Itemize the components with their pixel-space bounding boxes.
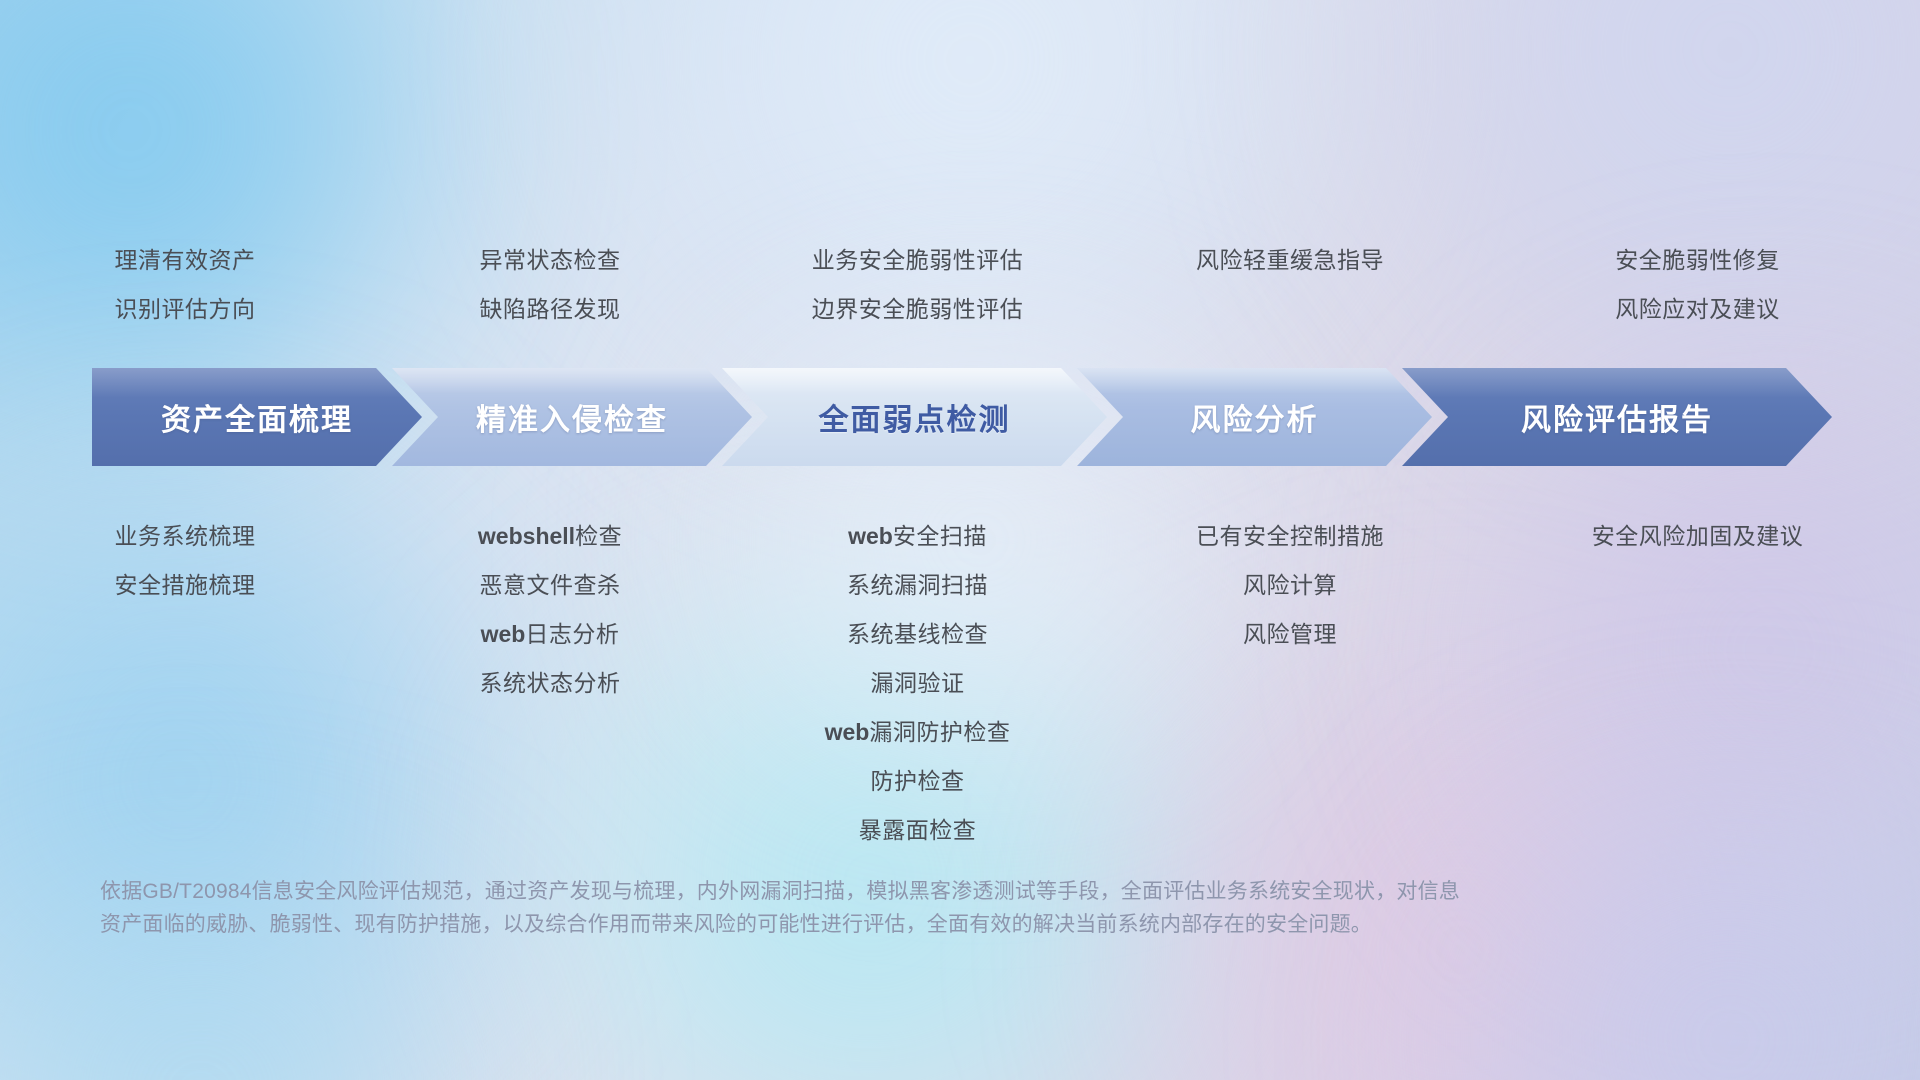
bottom-items-stage-4: 已有安全控制措施 风险计算 风险管理 [1105, 512, 1475, 659]
bottom-item: 恶意文件查杀 [370, 561, 730, 610]
bottom-item-cjk: 安全扫描 [893, 523, 987, 549]
top-item: 业务安全脆弱性评估 [730, 236, 1105, 285]
bottom-item-latin: web [848, 523, 893, 549]
top-item: 安全脆弱性修复 [1475, 236, 1920, 285]
bottom-item: 系统基线检查 [730, 610, 1105, 659]
bottom-item: 风险管理 [1105, 610, 1475, 659]
stage-arrow-4[interactable]: 风险分析 [1077, 368, 1432, 466]
top-item: 异常状态检查 [370, 236, 730, 285]
stage-arrow-2[interactable]: 精准入侵检查 [392, 368, 752, 466]
stage-arrow-1-label: 资产全面梳理 [161, 395, 353, 439]
bottom-items-stage-1: 业务系统梳理 安全措施梳理 [0, 512, 370, 610]
top-item: 理清有效资产 [0, 236, 370, 285]
bottom-item-cjk: 日志分析 [525, 621, 619, 647]
top-item: 缺陷路径发现 [370, 285, 730, 334]
bottom-item: 风险计算 [1105, 561, 1475, 610]
stage-arrow-2-label: 精准入侵检查 [476, 395, 668, 439]
bottom-item: 业务系统梳理 [0, 512, 370, 561]
bottom-item: 系统状态分析 [370, 659, 730, 708]
bottom-items-stage-5: 安全风险加固及建议 [1475, 512, 1920, 561]
top-items-stage-4: 风险轻重缓急指导 [1105, 236, 1475, 334]
top-items-stage-1: 理清有效资产 识别评估方向 [0, 236, 370, 334]
top-item: 风险轻重缓急指导 [1105, 236, 1475, 285]
footer-description: 依据GB/T20984信息安全风险评估规范，通过资产发现与梳理，内外网漏洞扫描，… [100, 875, 1620, 941]
top-item: 风险应对及建议 [1475, 285, 1920, 334]
bottom-item-cjk: 漏洞防护检查 [869, 719, 1010, 745]
stage-arrow-4-label: 风险分析 [1191, 395, 1319, 439]
stage-arrow-1[interactable]: 资产全面梳理 [92, 368, 422, 466]
bottom-item: 已有安全控制措施 [1105, 512, 1475, 561]
bottom-item: 暴露面检查 [730, 806, 1105, 855]
footer-line-1: 依据GB/T20984信息安全风险评估规范，通过资产发现与梳理，内外网漏洞扫描，… [100, 875, 1620, 908]
bottom-item: webshell检查 [370, 512, 730, 561]
top-items-stage-2: 异常状态检查 缺陷路径发现 [370, 236, 730, 334]
bottom-item-latin: webshell [478, 523, 575, 549]
bottom-item: web漏洞防护检查 [730, 708, 1105, 757]
bottom-item: 防护检查 [730, 757, 1105, 806]
stage-arrow-3-label: 全面弱点检测 [819, 395, 1011, 439]
bottom-item: 漏洞验证 [730, 659, 1105, 708]
top-item: 识别评估方向 [0, 285, 370, 334]
bottom-items-stage-3: web安全扫描 系统漏洞扫描 系统基线检查 漏洞验证 web漏洞防护检查 防护检… [730, 512, 1105, 855]
process-arrow-banner: 资产全面梳理 精准入侵检查 全面弱点检测 风险分析 风险评估报告 [92, 368, 1832, 466]
bottom-item: web日志分析 [370, 610, 730, 659]
bottom-item-cjk: 检查 [575, 523, 622, 549]
stage-arrow-3[interactable]: 全面弱点检测 [722, 368, 1107, 466]
top-item: 边界安全脆弱性评估 [730, 285, 1105, 334]
footer-line-2: 资产面临的威胁、脆弱性、现有防护措施，以及综合作用而带来风险的可能性进行评估，全… [100, 908, 1620, 941]
top-items-stage-5: 安全脆弱性修复 风险应对及建议 [1475, 236, 1920, 334]
stage-arrow-5-label: 风险评估报告 [1521, 395, 1713, 439]
bottom-item: 安全风险加固及建议 [1475, 512, 1920, 561]
top-items-stage-3: 业务安全脆弱性评估 边界安全脆弱性评估 [730, 236, 1105, 334]
slide-canvas: 理清有效资产 识别评估方向 异常状态检查 缺陷路径发现 业务安全脆弱性评估 边界… [0, 0, 1920, 1080]
bottom-item-latin: web [481, 621, 526, 647]
bottom-item: 安全措施梳理 [0, 561, 370, 610]
top-items-row: 理清有效资产 识别评估方向 异常状态检查 缺陷路径发现 业务安全脆弱性评估 边界… [0, 236, 1920, 334]
stage-arrow-5[interactable]: 风险评估报告 [1402, 368, 1832, 466]
bottom-item: 系统漏洞扫描 [730, 561, 1105, 610]
bottom-items-stage-2: webshell检查 恶意文件查杀 web日志分析 系统状态分析 [370, 512, 730, 708]
bottom-items-row: 业务系统梳理 安全措施梳理 webshell检查 恶意文件查杀 web日志分析 … [0, 512, 1920, 855]
bottom-item: web安全扫描 [730, 512, 1105, 561]
bottom-item-latin: web [825, 719, 870, 745]
